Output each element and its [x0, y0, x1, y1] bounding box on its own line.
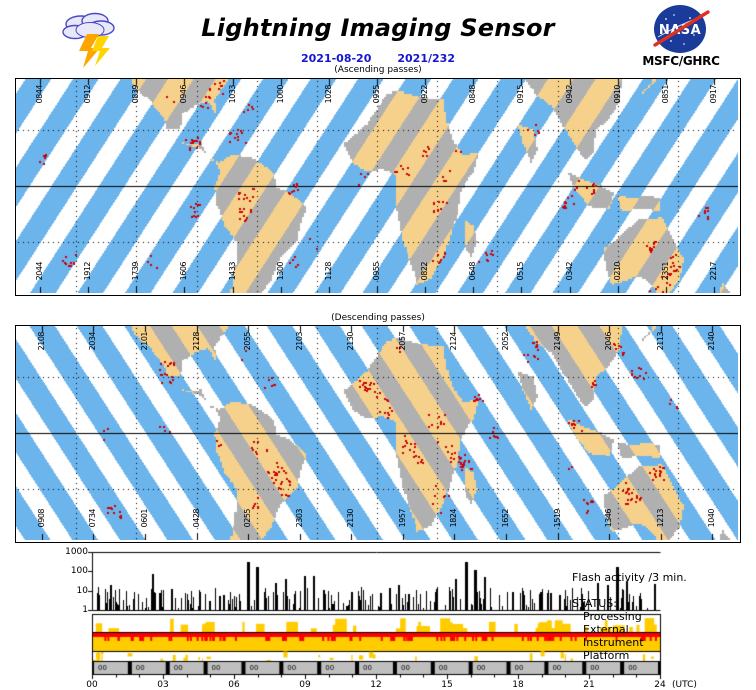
flash-activity-legend-label: Flash activity /3 min.: [572, 571, 687, 584]
map-tick-label: 1433: [229, 262, 237, 280]
map-tick-label: 1213: [657, 509, 665, 527]
map-tick-label: 0922: [421, 85, 429, 103]
chart-x-tick-label: 15: [435, 680, 459, 690]
nasa-logo-block: NASA MSFC/GHRC: [620, 4, 742, 72]
ascending-caption: (Ascending passes): [178, 65, 578, 75]
date-value: 2021-08-20: [301, 52, 371, 65]
status-legend-instrument: Instrument: [583, 636, 644, 649]
map-tick-label: 0822: [421, 262, 429, 280]
descending-caption: (Descending passes): [178, 313, 578, 323]
descending-map-panel[interactable]: [15, 325, 741, 543]
map-tick-label: 0342: [566, 262, 574, 280]
status-legend-title: STATUS:: [572, 597, 617, 610]
map-tick-label: 1739: [132, 262, 140, 280]
agency-caption: MSFC/GHRC: [620, 54, 742, 68]
map-tick-label: 1652: [502, 509, 510, 527]
map-tick-label: 2140: [708, 332, 716, 350]
date-stamp: 2021-08-202021/232: [178, 52, 578, 65]
map-tick-label: 0942: [566, 85, 574, 103]
map-tick-label: 1040: [708, 509, 716, 527]
chart-x-tick-label: 03: [151, 680, 175, 690]
chart-y-tick-label: 10: [50, 586, 88, 596]
status-legend-processing: Processing: [583, 610, 642, 623]
page-title: Lightning Imaging Sensor: [178, 14, 578, 42]
chart-x-axis-unit: (UTC): [672, 680, 697, 690]
map-tick-label: 2130: [347, 509, 355, 527]
map-tick-label: 2055: [244, 332, 252, 350]
chart-x-tick-label: 06: [222, 680, 246, 690]
map-tick-label: 0648: [469, 262, 477, 280]
status-legend-external: External: [583, 623, 629, 636]
map-tick-label: 0955: [373, 262, 381, 280]
map-tick-label: 1606: [180, 262, 188, 280]
nasa-meatball-icon: NASA: [638, 4, 722, 54]
map-tick-label: 0910: [614, 85, 622, 103]
map-tick-label: 2351: [662, 262, 670, 280]
map-tick-label: 2217: [710, 262, 718, 280]
map-tick-label: 0912: [84, 85, 92, 103]
map-tick-label: 1957: [399, 509, 407, 527]
map-tick-label: 1028: [325, 85, 333, 103]
chart-x-tick-label: 12: [364, 680, 388, 690]
chart-y-tick-label: 100: [50, 566, 88, 576]
map-tick-label: 2046: [605, 332, 613, 350]
map-tick-label: 0255: [244, 509, 252, 527]
map-tick-label: 2113: [657, 332, 665, 350]
map-tick-label: 1128: [325, 262, 333, 280]
map-tick-label: 0839: [132, 85, 140, 103]
map-tick-label: 0848: [469, 85, 477, 103]
chart-y-tick-label: 1: [50, 605, 88, 615]
map-tick-label: 0908: [38, 509, 46, 527]
map-tick-label: 1346: [605, 509, 613, 527]
map-tick-label: 2052: [502, 332, 510, 350]
map-tick-label: 2130: [347, 332, 355, 350]
chart-x-tick-label: 18: [506, 680, 530, 690]
thunderstorm-cloud-icon: [57, 8, 123, 70]
map-tick-label: 0844: [36, 85, 44, 103]
map-tick-label: 2124: [450, 332, 458, 350]
chart-x-tick-label: 00: [80, 680, 104, 690]
map-tick-label: 2303: [296, 509, 304, 527]
map-tick-label: 2057: [399, 332, 407, 350]
map-tick-label: 2103: [296, 332, 304, 350]
map-tick-label: 0515: [517, 262, 525, 280]
chart-x-tick-label: 24: [648, 680, 672, 690]
map-tick-label: 2108: [38, 332, 46, 350]
map-tick-label: 0851: [662, 85, 670, 103]
map-tick-label: 2149: [554, 332, 562, 350]
status-legend-platform: Platform: [583, 649, 629, 662]
map-tick-label: 1000: [277, 85, 285, 103]
map-tick-label: 1519: [554, 509, 562, 527]
map-tick-label: 2128: [193, 332, 201, 350]
map-tick-label: 0428: [193, 509, 201, 527]
map-tick-label: 1300: [277, 262, 285, 280]
chart-x-tick-label: 09: [293, 680, 317, 690]
map-tick-label: 0955: [373, 85, 381, 103]
map-tick-label: 0915: [517, 85, 525, 103]
map-tick-label: 2101: [141, 332, 149, 350]
doy-value: 2021/232: [397, 52, 455, 65]
map-tick-label: 0210: [614, 262, 622, 280]
map-tick-label: 2044: [36, 262, 44, 280]
chart-y-tick-label: 1000: [50, 547, 88, 557]
chart-x-tick-label: 21: [577, 680, 601, 690]
ascending-map-canvas[interactable]: [16, 79, 738, 293]
flash-activity-chart[interactable]: 1101001000000306091215182124(UTC) Flash …: [0, 548, 756, 680]
flash-activity-canvas[interactable]: [0, 548, 756, 680]
map-tick-label: 1824: [450, 509, 458, 527]
page-header: Lightning Imaging Sensor 2021-08-202021/…: [0, 0, 756, 76]
map-tick-label: 1033: [229, 85, 237, 103]
map-tick-label: 0917: [710, 85, 718, 103]
map-tick-label: 0946: [180, 85, 188, 103]
map-tick-label: 0734: [89, 509, 97, 527]
map-tick-label: 0601: [141, 509, 149, 527]
map-tick-label: 1912: [84, 262, 92, 280]
map-tick-label: 2034: [89, 332, 97, 350]
descending-map-canvas[interactable]: [16, 326, 738, 540]
